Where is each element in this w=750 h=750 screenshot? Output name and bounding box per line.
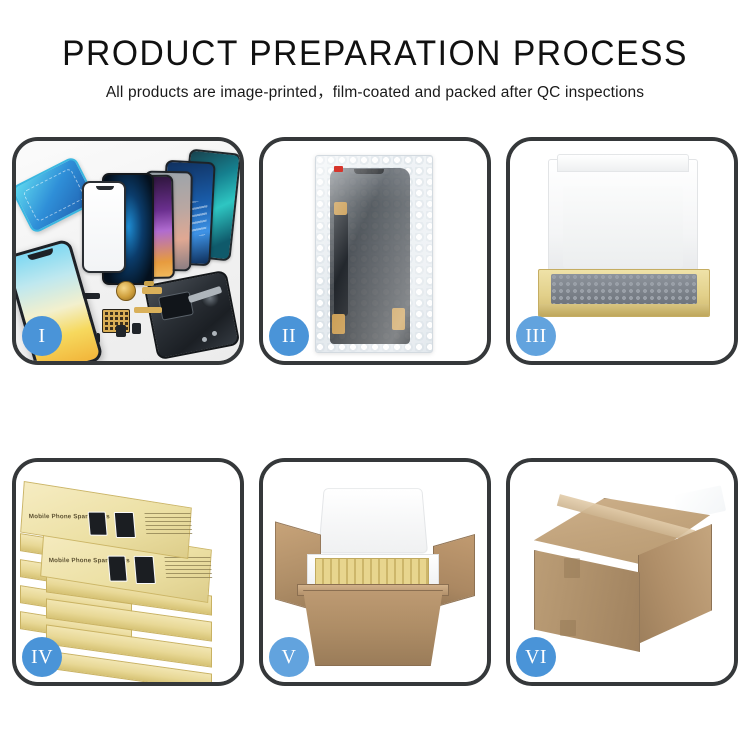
bubble-wrap-bag	[315, 155, 433, 353]
carton-body	[297, 590, 449, 666]
process-step-1: I	[12, 137, 244, 365]
box-print-spec-text-front	[164, 557, 212, 579]
gold-box-tray	[538, 269, 710, 317]
product-preparation-infographic: PRODUCT PREPARATION PROCESS All products…	[0, 0, 750, 750]
spare-part-screw-3	[212, 331, 217, 336]
page-subtitle: All products are image-printed，film-coat…	[0, 83, 750, 103]
process-step-6: VI	[506, 458, 738, 686]
spare-part-gold-1	[144, 281, 154, 286]
gold-box-front-lip	[539, 304, 709, 316]
spare-part-bracket-3	[116, 325, 126, 337]
spare-part-flex-2	[134, 307, 162, 313]
carton-patch-top	[564, 558, 580, 578]
white-foam-lid	[548, 159, 698, 279]
spare-part-screw-2	[202, 337, 207, 342]
qc-sticker	[334, 166, 343, 172]
phone-glass-white	[82, 181, 126, 273]
process-step-5: V	[259, 458, 491, 686]
process-step-2: II	[259, 137, 491, 365]
box-print-screen-2	[134, 556, 156, 584]
phone-back-cover	[144, 270, 240, 361]
foam-lid-open	[318, 488, 428, 553]
process-step-grid: I II	[12, 137, 738, 686]
lcd-flex-cable	[334, 212, 348, 316]
spare-part-bracket-4	[132, 323, 141, 334]
lcd-notch	[354, 169, 384, 174]
carton-front-face	[534, 550, 640, 652]
grey-foam-padding	[551, 274, 697, 304]
step-badge-3: III	[516, 316, 556, 356]
step-badge-2: II	[269, 316, 309, 356]
step-badge-4: IV	[22, 637, 62, 677]
box-print-spec-text-top	[144, 513, 192, 535]
box-print-screen-3	[88, 512, 108, 536]
page-title: PRODUCT PREPARATION PROCESS	[15, 34, 735, 74]
step-badge-1: I	[22, 316, 62, 356]
process-step-4: Mobile Phone Spare Parts Mobile Phone Sp…	[12, 458, 244, 686]
carton-patch-bottom	[560, 620, 576, 636]
step-badge-6: VI	[516, 637, 556, 677]
lcd-connector-bottom-left	[332, 314, 345, 334]
spare-part-coin	[116, 281, 136, 301]
box-print-screen-4	[114, 512, 136, 538]
lcd-connector-bottom-right	[392, 308, 405, 330]
spare-part-flex-1	[142, 287, 162, 294]
box-print-screen-1	[107, 556, 127, 582]
lcd-connector-top	[334, 202, 347, 215]
step-badge-5: V	[269, 637, 309, 677]
header: PRODUCT PREPARATION PROCESS All products…	[0, 34, 750, 103]
process-step-3: III	[506, 137, 738, 365]
